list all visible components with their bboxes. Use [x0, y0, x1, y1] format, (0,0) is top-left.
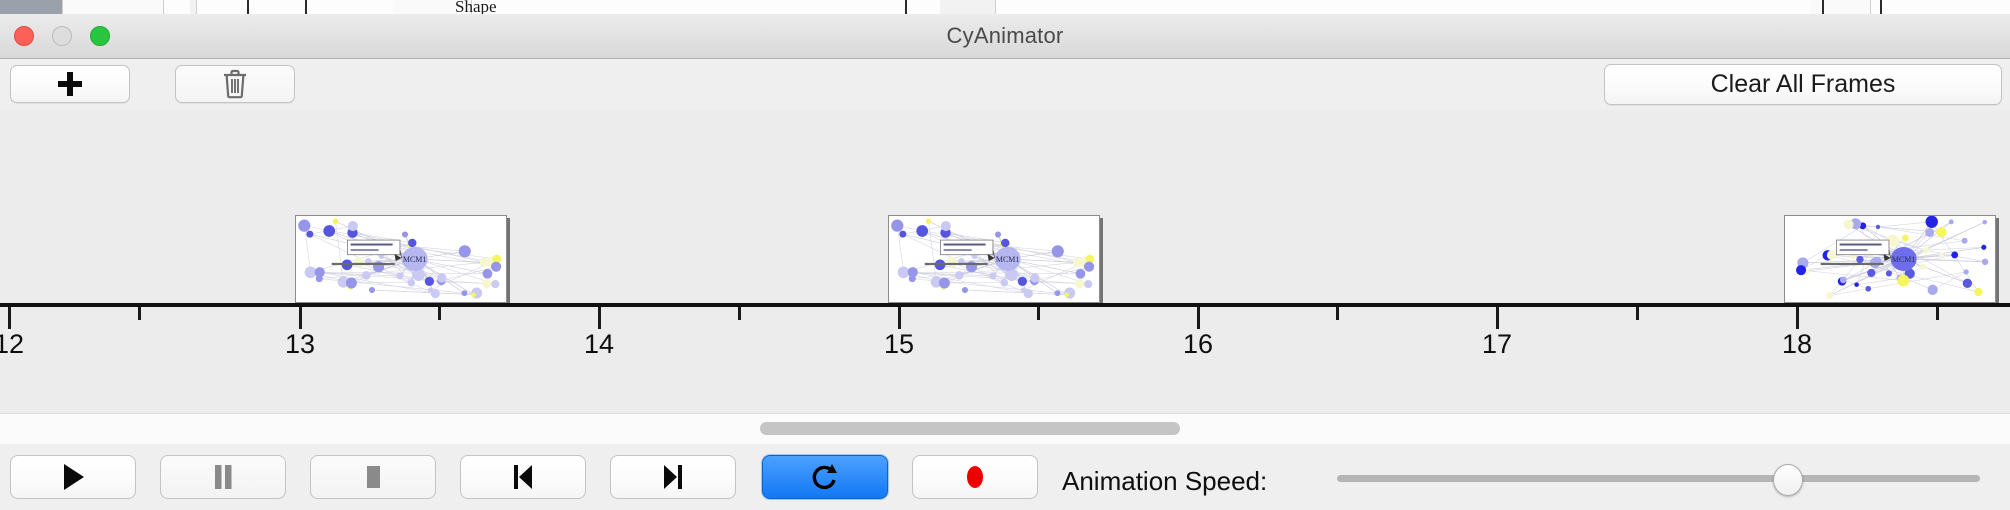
ruler-tick [1197, 307, 1200, 329]
bg-tick [905, 0, 907, 14]
pause-icon [208, 461, 238, 493]
svg-text:MCM1: MCM1 [996, 255, 1020, 264]
bg-chip [0, 0, 63, 14]
bg-chip [940, 0, 996, 14]
timeline-scrollbar-thumb[interactable] [760, 422, 1180, 435]
svg-text:MCM1: MCM1 [1892, 255, 1916, 264]
network-graph: MCM1 [296, 216, 506, 302]
ruler-tick-label: 13 [285, 329, 315, 360]
frame-toolbar: Clear All Frames [0, 59, 2010, 111]
play-button[interactable] [10, 455, 136, 499]
bg-tick [1822, 0, 1824, 14]
add-frame-button[interactable] [10, 65, 130, 103]
loop-button[interactable] [762, 455, 888, 499]
ruler-tick [1496, 307, 1499, 329]
stop-button [310, 455, 436, 499]
ruler-tick [1796, 307, 1799, 329]
network-graph: MCM1 [889, 216, 1099, 302]
pause-button [160, 455, 286, 499]
window-title: CyAnimator [0, 23, 2010, 49]
title-bar: CyAnimator [0, 14, 2010, 59]
bg-tick [247, 0, 249, 14]
ruler-tick-label: 16 [1183, 329, 1213, 360]
background-window-strip: Shape [0, 0, 2010, 15]
bg-chip [1810, 0, 1871, 14]
frame-thumbnail[interactable]: MCM1 [295, 215, 507, 303]
animation-speed-label: Animation Speed: [1062, 466, 1267, 497]
record-icon [960, 461, 990, 493]
timeline-scrollbar[interactable] [0, 413, 2010, 445]
skip-back-icon [508, 461, 538, 493]
ruler-tick [738, 307, 741, 320]
next-button[interactable] [610, 455, 736, 499]
trash-icon [221, 69, 249, 99]
loop-icon [810, 461, 840, 493]
cyanimator-window: Shape CyAnimator Clear All Frames M [0, 0, 2010, 510]
ruler-tick [138, 307, 141, 320]
animation-speed-slider-knob[interactable] [1773, 464, 1803, 496]
ruler-tick [1336, 307, 1339, 320]
svg-text:MCM1: MCM1 [403, 255, 427, 264]
bg-tick [1880, 0, 1882, 14]
ruler-tick [299, 307, 302, 329]
ruler-tick-label: 15 [884, 329, 914, 360]
stop-icon [358, 461, 388, 493]
bg-tick [305, 0, 307, 14]
bg-chip [190, 0, 197, 14]
previous-button[interactable] [460, 455, 586, 499]
animation-speed-slider[interactable] [1337, 475, 1980, 482]
ruler-tick [1936, 307, 1939, 320]
play-icon [58, 461, 88, 493]
ruler-tick-label: 14 [584, 329, 614, 360]
timeline-panel[interactable]: MCM1MCM1MCM1 12131415161718 Seconds [0, 110, 2010, 413]
ruler-tick [8, 307, 11, 329]
frame-thumbnail[interactable]: MCM1 [1784, 215, 1996, 303]
playback-controls: Animation Speed: [0, 444, 2010, 510]
ruler-tick [1037, 307, 1040, 320]
ruler-tick [598, 307, 601, 329]
frame-thumbnail[interactable]: MCM1 [888, 215, 1100, 303]
ruler-tick-label: 18 [1782, 329, 1812, 360]
background-window-text: Shape [455, 0, 497, 15]
ruler-tick-label: 17 [1482, 329, 1512, 360]
ruler-tick-label: 12 [0, 329, 24, 360]
network-graph: MCM1 [1785, 216, 1995, 302]
delete-frame-button[interactable] [175, 65, 295, 103]
ruler-tick [438, 307, 441, 320]
timeline-ruler[interactable]: 12131415161718 [0, 303, 2010, 398]
clear-all-frames-button[interactable]: Clear All Frames [1604, 64, 2002, 105]
record-button[interactable] [912, 455, 1038, 499]
ruler-tick [898, 307, 901, 329]
bg-chip [63, 0, 164, 14]
ruler-tick [1636, 307, 1639, 320]
skip-forward-icon [658, 461, 688, 493]
plus-icon [57, 71, 83, 97]
